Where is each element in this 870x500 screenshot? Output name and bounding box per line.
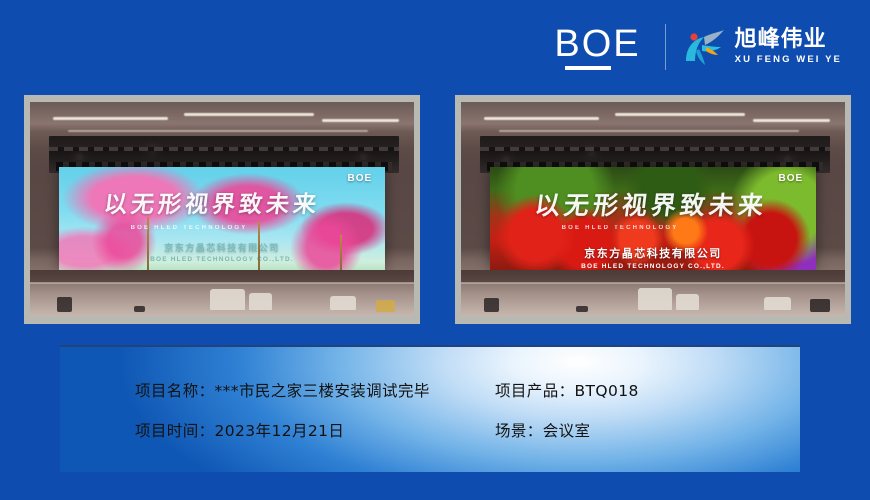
led-company-block: 京东方晶芯科技有限公司 BOE HLED TECHNOLOGY CO.,LTD.	[59, 241, 385, 263]
boe-logo: BOE	[554, 24, 662, 70]
stage-object	[134, 306, 146, 312]
led-wall-left: 以无形视界致未来 BOE HLED TECHNOLOGY 京东方晶芯科技有限公司…	[59, 167, 385, 270]
ceiling-light-strip	[499, 130, 799, 132]
scene-line: 场景：会议室	[495, 419, 639, 441]
info-panel: 项目名称：***市民之家三楼安装调试完毕 项目时间：2023年12月21日 项目…	[60, 345, 800, 472]
partner-name-cn: 旭峰伟业	[735, 29, 842, 51]
led-company-en: BOE HLED TECHNOLOGY CO.,LTD.	[59, 256, 385, 263]
led-company-block: 京东方晶芯科技有限公司 BOE HLED TECHNOLOGY CO.,LTD.	[490, 245, 816, 270]
stage-object	[330, 296, 357, 310]
ceiling-light-strip	[615, 113, 746, 116]
logo-divider	[665, 24, 666, 70]
stage-object	[576, 306, 588, 312]
ceiling-light-strip	[68, 130, 368, 132]
ceiling-light-strip	[53, 117, 168, 120]
stage-object	[484, 298, 499, 313]
stage-object	[57, 297, 72, 313]
slide-root: BOE 旭峰伟业 XU FENG WEI YE	[0, 0, 870, 500]
led-calligraphy-text: 以无形视界致未来	[102, 188, 361, 223]
stage-object	[376, 300, 395, 312]
partner-name-en: XU FENG WEI YE	[735, 55, 842, 65]
xufeng-bird-mark-icon	[682, 27, 726, 67]
boe-underline-icon	[565, 66, 611, 70]
info-column-right: 项目产品：BTQ018 场景：会议室	[495, 379, 639, 441]
ceiling-light-strip	[322, 119, 399, 122]
ceiling-light-strip	[753, 119, 830, 122]
stage-object	[810, 299, 829, 313]
info-column-left: 项目名称：***市民之家三楼安装调试完毕 项目时间：2023年12月21日	[135, 379, 485, 441]
partner-wordmark: 旭峰伟业 XU FENG WEI YE	[735, 29, 842, 65]
photo-right[interactable]: 以无形视界致未来 BOE HLED TECHNOLOGY 京东方晶芯科技有限公司…	[455, 95, 851, 324]
photo-right-image: 以无形视界致未来 BOE HLED TECHNOLOGY 京东方晶芯科技有限公司…	[461, 102, 845, 316]
stage-floor	[30, 270, 414, 316]
led-boe-watermark: BOE	[778, 173, 803, 184]
led-company-en: BOE HLED TECHNOLOGY CO.,LTD.	[490, 263, 816, 270]
partner-logo: 旭峰伟业 XU FENG WEI YE	[682, 27, 842, 67]
project-product-line: 项目产品：BTQ018	[495, 379, 639, 401]
photo-left[interactable]: 以无形视界致未来 BOE HLED TECHNOLOGY 京东方晶芯科技有限公司…	[24, 95, 420, 324]
stage-object	[210, 289, 245, 309]
ceiling-light-strip	[484, 117, 599, 120]
header-logo-group: BOE 旭峰伟业 XU FENG WEI YE	[554, 22, 842, 72]
stage-object	[676, 294, 699, 310]
stage-object	[638, 288, 673, 309]
led-wall-right: 以无形视界致未来 BOE HLED TECHNOLOGY 京东方晶芯科技有限公司…	[490, 167, 816, 270]
led-company-cn: 京东方晶芯科技有限公司	[59, 241, 385, 254]
led-subtitle-text: BOE HLED TECHNOLOGY	[562, 225, 784, 231]
boe-wordmark-text: BOE	[554, 24, 640, 64]
project-time-line: 项目时间：2023年12月21日	[135, 419, 485, 441]
led-subtitle-text: BOE HLED TECHNOLOGY	[131, 225, 353, 231]
ceiling-light-strip	[184, 113, 315, 116]
led-calligraphy-text: 以无形视界致未来	[533, 188, 792, 223]
project-name-line: 项目名称：***市民之家三楼安装调试完毕	[135, 379, 485, 401]
stage-object	[249, 293, 272, 310]
led-company-cn: 京东方晶芯科技有限公司	[490, 245, 816, 261]
led-boe-watermark: BOE	[347, 173, 372, 184]
stage-object	[764, 297, 791, 310]
photo-left-image: 以无形视界致未来 BOE HLED TECHNOLOGY 京东方晶芯科技有限公司…	[30, 102, 414, 316]
stage-floor	[461, 270, 845, 316]
